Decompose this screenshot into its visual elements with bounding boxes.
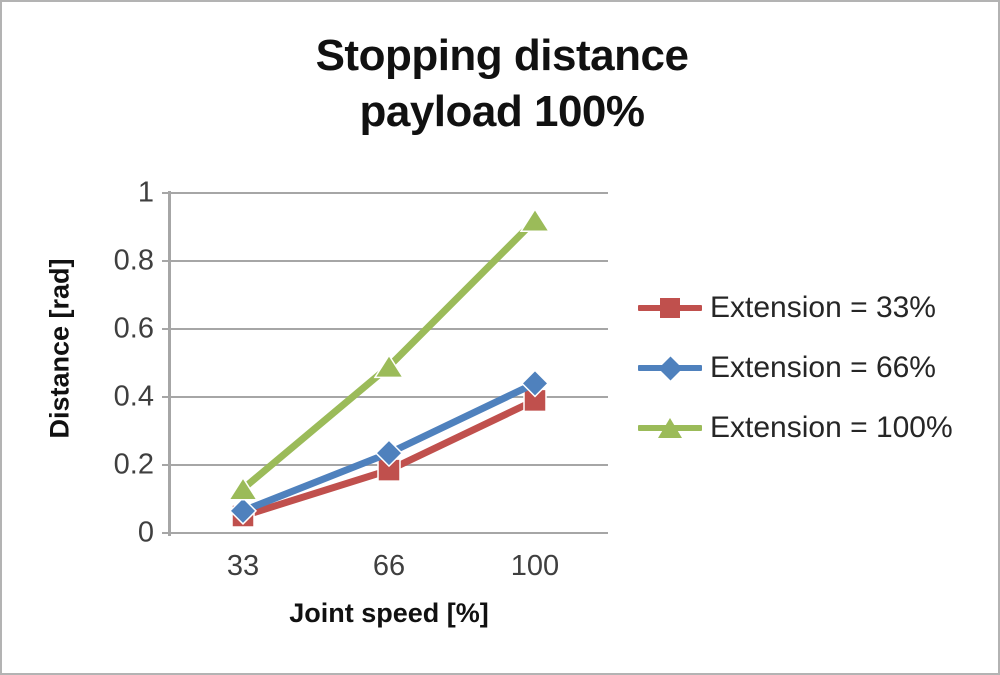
y-axis-title: Distance [rad]	[45, 239, 76, 459]
y-axis-tick	[162, 532, 171, 534]
legend-key-marker	[660, 298, 680, 318]
y-axis-tick-label: 0.4	[88, 381, 154, 414]
gridline	[170, 532, 608, 534]
legend: Extension = 33%Extension = 66%Extension …	[638, 278, 988, 458]
legend-item: Extension = 33%	[638, 278, 988, 338]
x-axis-tick-label: 66	[329, 550, 449, 583]
legend-key-triangle-icon	[638, 415, 702, 441]
y-axis-tick-label: 0	[88, 517, 154, 550]
x-axis-tick-label: 100	[475, 550, 595, 583]
gridline	[170, 192, 608, 194]
legend-key-marker	[658, 356, 682, 380]
y-axis-tick	[162, 192, 171, 194]
legend-label: Extension = 33%	[710, 291, 936, 325]
y-axis-tick	[162, 260, 171, 262]
legend-item: Extension = 100%	[638, 398, 988, 458]
y-axis-tick	[162, 396, 171, 398]
gridline	[170, 464, 608, 466]
legend-label: Extension = 100%	[710, 411, 953, 445]
gridline	[170, 328, 608, 330]
y-axis-tick	[162, 464, 171, 466]
y-axis-tick	[162, 328, 171, 330]
legend-key-diamond-icon	[638, 355, 702, 381]
plot-area	[170, 193, 608, 533]
legend-key-marker	[658, 418, 682, 438]
legend-label: Extension = 66%	[710, 351, 936, 385]
legend-item: Extension = 66%	[638, 338, 988, 398]
y-axis-tick-label: 0.6	[88, 313, 154, 346]
y-axis-tick-label: 0.8	[88, 245, 154, 278]
legend-key-square-icon	[638, 295, 702, 321]
chart-title-line-1: Stopping distance	[316, 31, 689, 80]
chart-image: Stopping distance payload 100% 00.20.40.…	[0, 0, 1000, 675]
y-axis-tick-label: 1	[88, 177, 154, 210]
x-axis-tick-label: 33	[183, 550, 303, 583]
x-axis-title: Joint speed [%]	[170, 598, 608, 629]
y-axis-tick-label: 0.2	[88, 449, 154, 482]
gridline	[170, 260, 608, 262]
y-axis-tick-labels: 00.20.40.60.81	[88, 2, 154, 675]
gridline	[170, 396, 608, 398]
